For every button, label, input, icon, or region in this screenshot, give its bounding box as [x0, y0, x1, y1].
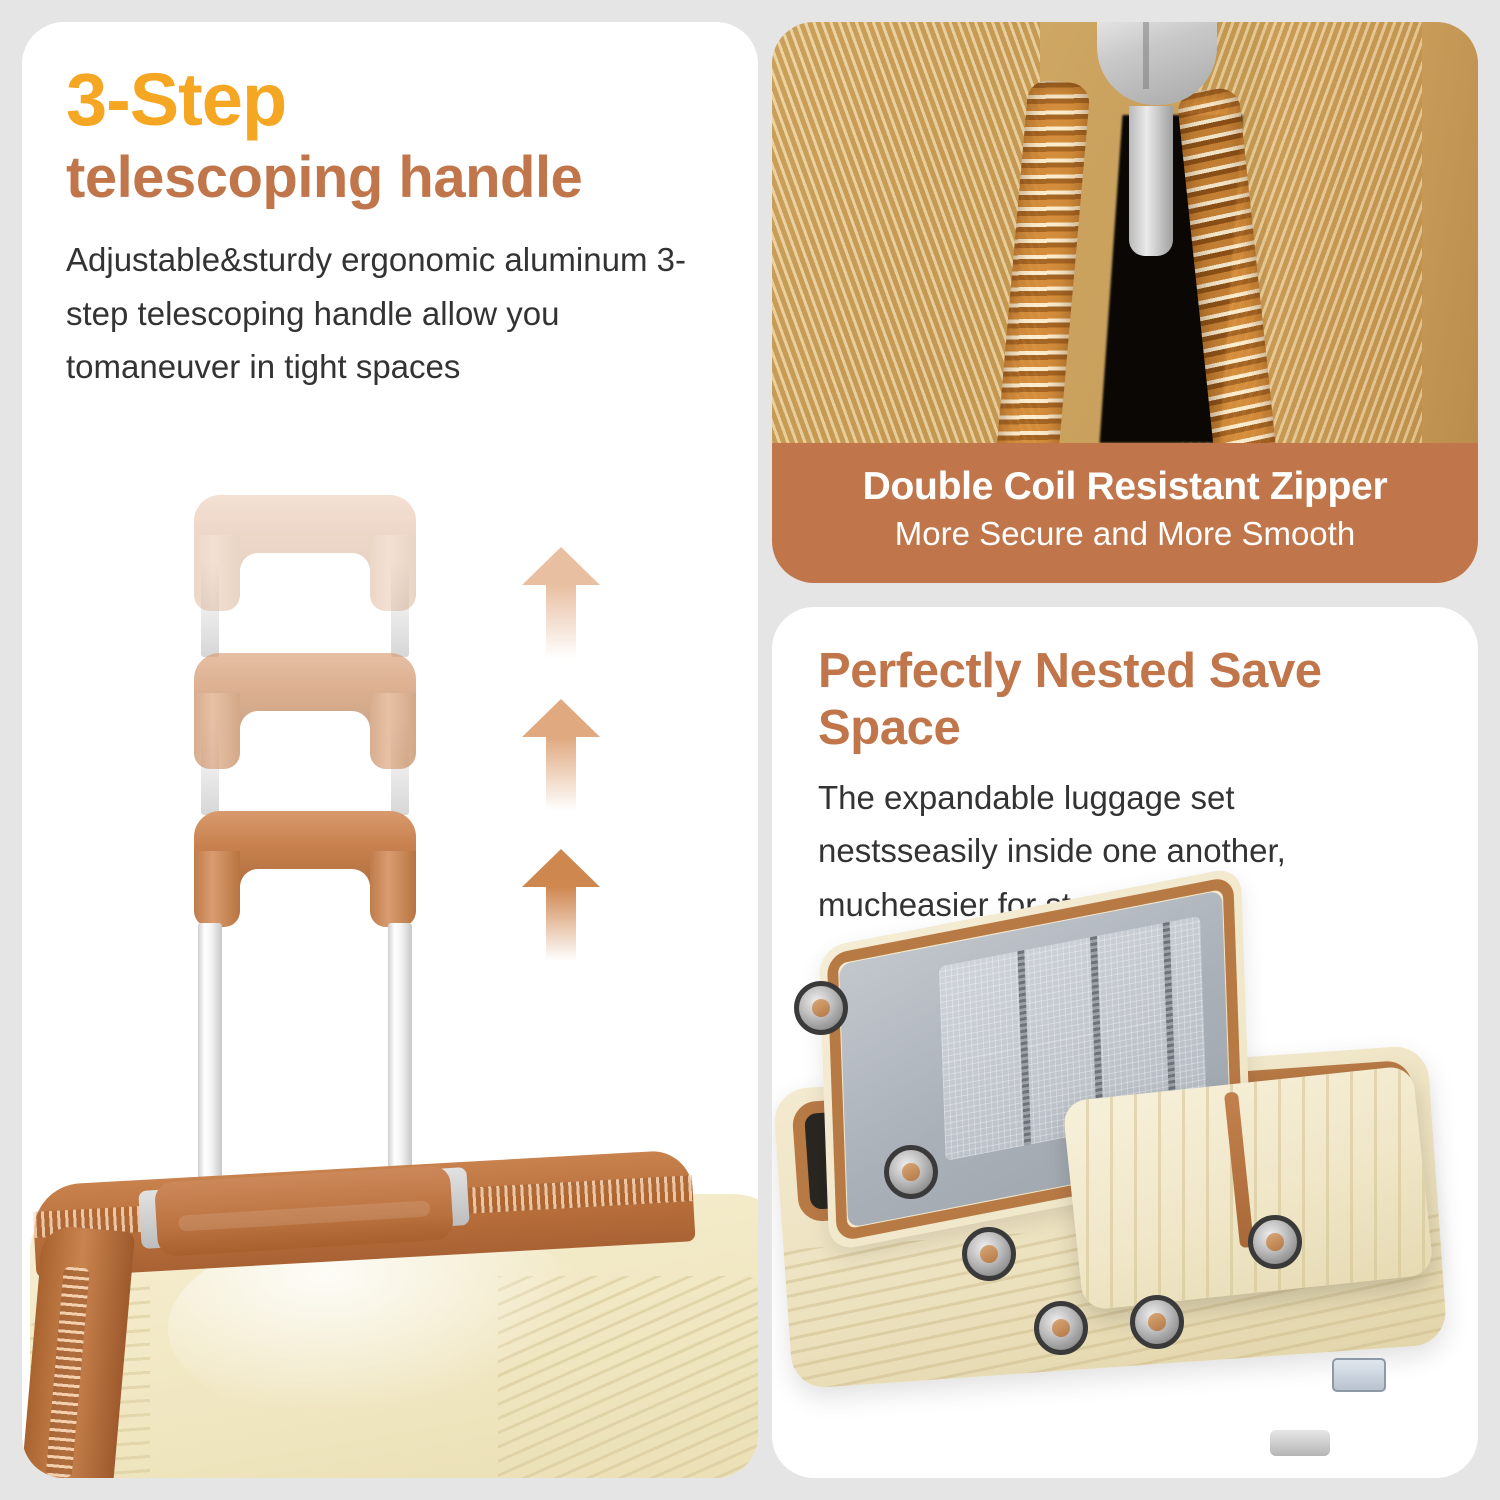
telescoping-handle-panel: 3-Step telescoping handle Adjustable&stu…	[22, 22, 758, 1478]
up-arrow-icon-2	[522, 699, 600, 811]
suitcase-latch	[1270, 1430, 1330, 1456]
handle-illustration	[22, 477, 758, 1478]
nested-space-panel: Perfectly Nested Save Space The expandab…	[772, 607, 1478, 1478]
spinner-wheel	[884, 1145, 938, 1199]
up-arrow-icon-3	[522, 849, 600, 961]
up-arrow-icon-1	[522, 547, 600, 659]
spinner-wheel	[962, 1227, 1016, 1281]
spinner-wheel	[1248, 1215, 1302, 1269]
page-title-line1: 3-Step	[66, 60, 714, 140]
suitcase-photo	[22, 1168, 758, 1478]
spinner-wheel	[1130, 1295, 1184, 1349]
zipper-panel: Double Coil Resistant Zipper More Secure…	[772, 22, 1478, 583]
nested-panel-text-block: Perfectly Nested Save Space The expandab…	[772, 607, 1478, 931]
spinner-wheel	[1034, 1301, 1088, 1355]
zipper-caption-subtitle: More Secure and More Smooth	[772, 515, 1478, 553]
nested-panel-heading: Perfectly Nested Save Space	[818, 643, 1432, 757]
luggage-tag	[1332, 1358, 1386, 1392]
left-panel-text-block: 3-Step telescoping handle Adjustable&stu…	[22, 22, 758, 394]
small-nested-suitcase	[1062, 1065, 1434, 1311]
spinner-wheel	[794, 981, 848, 1035]
nested-luggage-photo	[772, 897, 1478, 1478]
page-title-line2: telescoping handle	[66, 144, 714, 211]
zipper-pull-neck	[1129, 106, 1173, 256]
zipper-macro-photo	[772, 22, 1478, 443]
zipper-caption-title: Double Coil Resistant Zipper	[772, 465, 1478, 509]
left-panel-body-text: Adjustable&sturdy ergonomic aluminum 3-s…	[66, 233, 691, 393]
infographic-page: 3-Step telescoping handle Adjustable&stu…	[0, 0, 1500, 1500]
zipper-caption-bar: Double Coil Resistant Zipper More Secure…	[772, 443, 1478, 583]
